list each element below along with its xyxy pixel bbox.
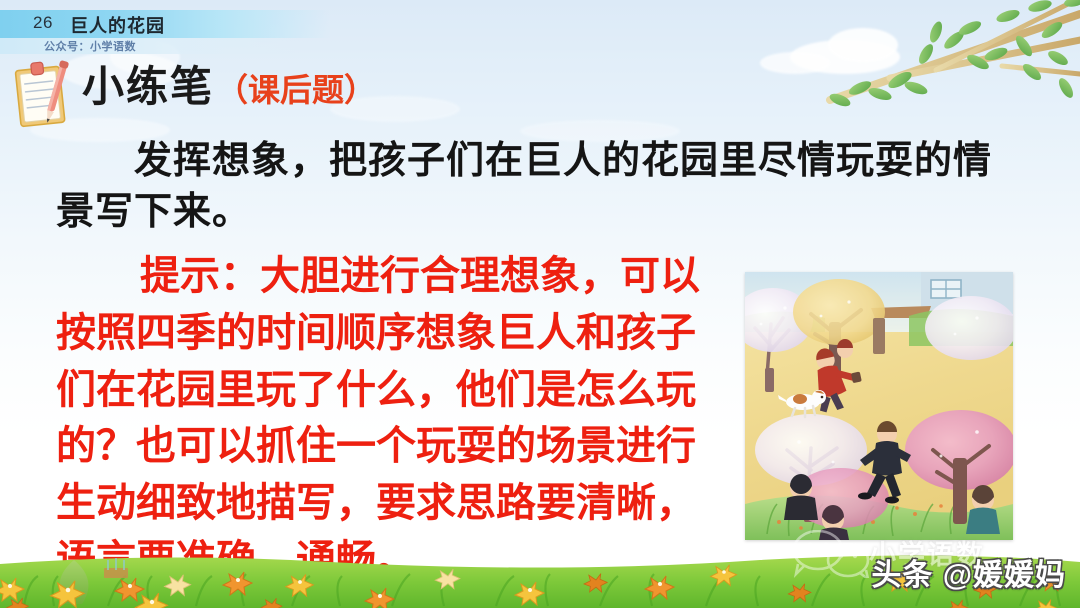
cloud-icon [760,52,830,74]
toutiao-watermark: 头条 @媛媛妈 [871,550,1066,594]
slide-canvas: 26 巨人的花园 公众号：小学语数 小练笔 （课后题） 发挥想象，把孩子 [0,0,1080,608]
cloud-icon [828,28,898,62]
garden-illustration [745,272,1013,540]
section-title: 小练笔 [82,66,214,108]
section-subtitle: （课后题） [216,74,376,106]
public-account-label: 公众号：小学语数 [44,38,136,54]
notepad-pen-icon [8,58,80,132]
section-title-group: 小练笔 （课后题） [82,66,376,108]
chapter-title: 巨人的花园 [70,12,165,38]
hint-paragraph: 提示：大胆进行合理想象，可以按照四季的时间顺序想象巨人和孩子们在花园里玩了什么，… [56,248,716,589]
body-paragraph: 发挥想象，把孩子们在巨人的花园里尽情玩耍的情景写下来。 [56,136,996,239]
chapter-number: 26 [33,13,53,33]
